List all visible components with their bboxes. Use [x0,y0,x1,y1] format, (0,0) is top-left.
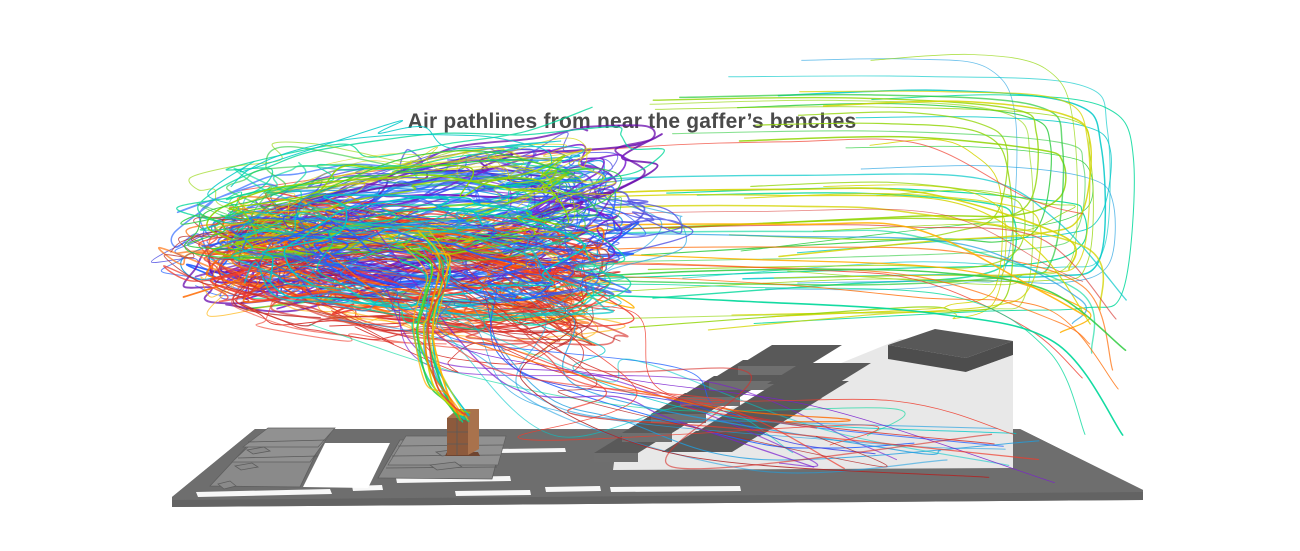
floor-stripe [455,490,531,496]
stair-tread [738,345,842,366]
stair-back-panel [966,355,1013,462]
furnace-front-face [447,418,468,455]
stair-riser [709,381,774,390]
floor-stripe [545,486,601,492]
pathline [741,146,1093,251]
floor-stripe [610,486,741,492]
scene-svg [0,0,1300,551]
pathline-visualization-canvas: Air pathlines from near the gaffer’s ben… [0,0,1300,551]
stair-riser [594,453,638,462]
